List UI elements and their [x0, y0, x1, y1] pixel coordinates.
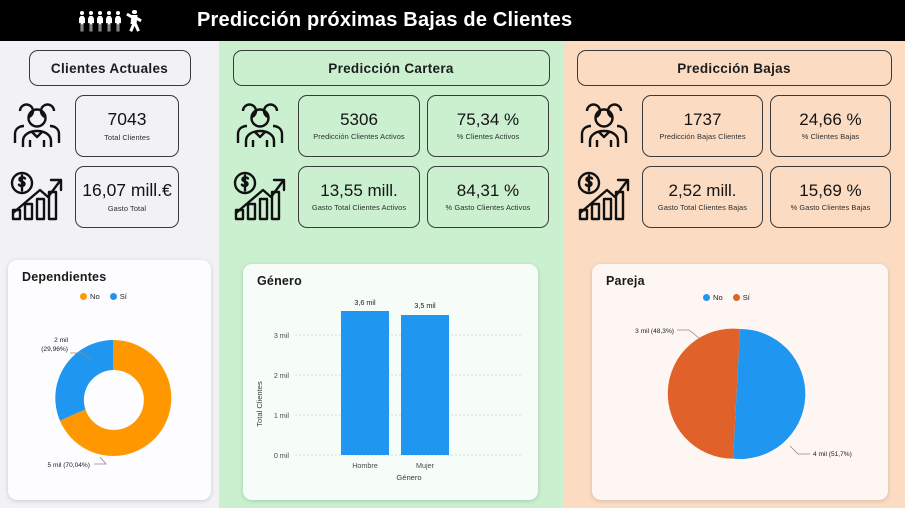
kpi-pct-gasto-bajas: 15,69 % % Gasto Clientes Bajas [770, 166, 891, 228]
ytick-label-1: 1 mil [274, 411, 290, 420]
kpi-value: 1737 [684, 111, 722, 129]
kpi-value: 84,31 % [457, 182, 519, 200]
kpi-gasto-clientes-bajas: 2,52 mill. Gasto Total Clientes Bajas [642, 166, 763, 228]
kpi-row-gasto-bajas: 2,52 mill. Gasto Total Clientes Bajas 15… [563, 166, 905, 228]
kpi-gasto-clientes-activos: 13,55 mill. Gasto Total Clientes Activos [298, 166, 420, 228]
slice-label-si-line2: (29,96%) [41, 346, 68, 353]
bar-hombre[interactable] [341, 311, 389, 455]
kpi-pct-gasto-activos: 84,31 % % Gasto Clientes Activos [427, 166, 549, 228]
callout-line-no [94, 457, 106, 464]
kpi-label: Predicción Clientes Activos [313, 132, 404, 141]
kpi-label: Gasto Total Clientes Activos [312, 203, 406, 212]
slice-label-no: 4 mil (51,7%) [813, 451, 852, 458]
bar-value-mujer: 3,5 mil [414, 301, 436, 310]
ytick-label-3: 3 mil [274, 331, 290, 340]
kpi-value: 13,55 mill. [320, 182, 397, 200]
callout-line-no [790, 446, 810, 454]
bar-value-hombre: 3,6 mil [354, 298, 376, 307]
donut-chart-dependientes[interactable]: 2 mil (29,96%) 5 mil (70,04%) [8, 260, 211, 500]
panel-title-actuales: Clientes Actuales [29, 50, 191, 86]
xaxis-label: Género [396, 473, 421, 482]
yaxis-label: Total Clientes [255, 381, 264, 427]
kpi-pct-clientes-activos: 75,34 % % Clientes Activos [427, 95, 549, 157]
xtick-label-hombre: Hombre [352, 461, 378, 470]
kpi-value: 5306 [340, 111, 378, 129]
xtick-label-mujer: Mujer [416, 461, 435, 470]
ytick-label-0: 0 mil [274, 451, 290, 460]
dashboard-root: Predicción próximas Bajas de Clientes Cl… [0, 0, 905, 508]
kpi-label: % Gasto Clientes Activos [446, 203, 531, 212]
bar-mujer[interactable] [401, 315, 449, 455]
kpi-value: 2,52 mill. [668, 182, 736, 200]
kpi-label: Gasto Total Clientes Bajas [658, 203, 747, 212]
ytick-label-2: 2 mil [274, 371, 290, 380]
pie-chart-pareja[interactable]: 3 mil (48,3%) 4 mil (51,7%) [592, 264, 888, 500]
kpi-label: Total Clientes [104, 133, 150, 142]
people-group-icon [229, 97, 291, 155]
kpi-label: % Gasto Clientes Bajas [791, 203, 871, 212]
kpi-value: 15,69 % [799, 182, 861, 200]
kpi-total-clientes: 7043 Total Clientes [75, 95, 179, 157]
kpi-prediccion-bajas-clientes: 1737 Predicción Bajas Clientes [642, 95, 763, 157]
kpi-label: % Clientes Activos [457, 132, 520, 141]
dashboard-header: Predicción próximas Bajas de Clientes [0, 0, 905, 41]
kpi-label: Gasto Total [108, 204, 146, 213]
kpi-gasto-total: 16,07 mill.€ Gasto Total [75, 166, 179, 228]
kpi-label: % Clientes Bajas [802, 132, 859, 141]
kpi-row-total-clientes: 7043 Total Clientes [0, 95, 219, 157]
page-title: Predicción próximas Bajas de Clientes [197, 9, 572, 32]
kpi-pct-clientes-bajas: 24,66 % % Clientes Bajas [770, 95, 891, 157]
chart-card-dependientes[interactable]: Dependientes No Sí 2 mil (29,96%) 5 mil … [8, 260, 211, 500]
kpi-prediccion-clientes-activos: 5306 Predicción Clientes Activos [298, 95, 420, 157]
people-group-icon [6, 97, 68, 155]
money-growth-icon [573, 168, 635, 226]
kpi-row-clientes-activos: 5306 Predicción Clientes Activos 75,34 %… [219, 95, 563, 157]
kpi-value: 75,34 % [457, 111, 519, 129]
kpi-row-gasto-activos: 13,55 mill. Gasto Total Clientes Activos… [219, 166, 563, 228]
kpi-value: 16,07 mill.€ [82, 181, 172, 199]
kpi-label: Predicción Bajas Clientes [659, 132, 745, 141]
people-walking-icon [78, 10, 141, 32]
callout-line-si [677, 330, 699, 338]
bar-chart-genero[interactable]: 0 mil 1 mil 2 mil 3 mil Total Clientes 3… [243, 264, 538, 500]
kpi-value: 7043 [108, 110, 147, 128]
panel-title-bajas: Predicción Bajas [577, 50, 892, 86]
kpi-value: 24,66 % [799, 111, 861, 129]
slice-label-si-line1: 2 mil [54, 337, 68, 344]
kpi-row-bajas-clientes: 1737 Predicción Bajas Clientes 24,66 % %… [563, 95, 905, 157]
slice-label-no: 5 mil (70,04%) [47, 462, 90, 469]
kpi-row-gasto-total: 16,07 mill.€ Gasto Total [0, 166, 219, 228]
slice-label-si: 3 mil (48,3%) [635, 328, 674, 335]
money-growth-icon [229, 168, 291, 226]
panel-title-cartera: Predicción Cartera [233, 50, 550, 86]
money-growth-icon [6, 168, 68, 226]
chart-card-pareja[interactable]: Pareja No Sí 3 mil (48,3%) 4 mil (51,7%) [592, 264, 888, 500]
chart-card-genero[interactable]: Género 0 mil 1 mil 2 mil 3 mil Total Cli… [243, 264, 538, 500]
pie-slice-si[interactable] [668, 329, 740, 459]
pie-slice-no[interactable] [733, 329, 805, 459]
people-group-icon [573, 97, 635, 155]
